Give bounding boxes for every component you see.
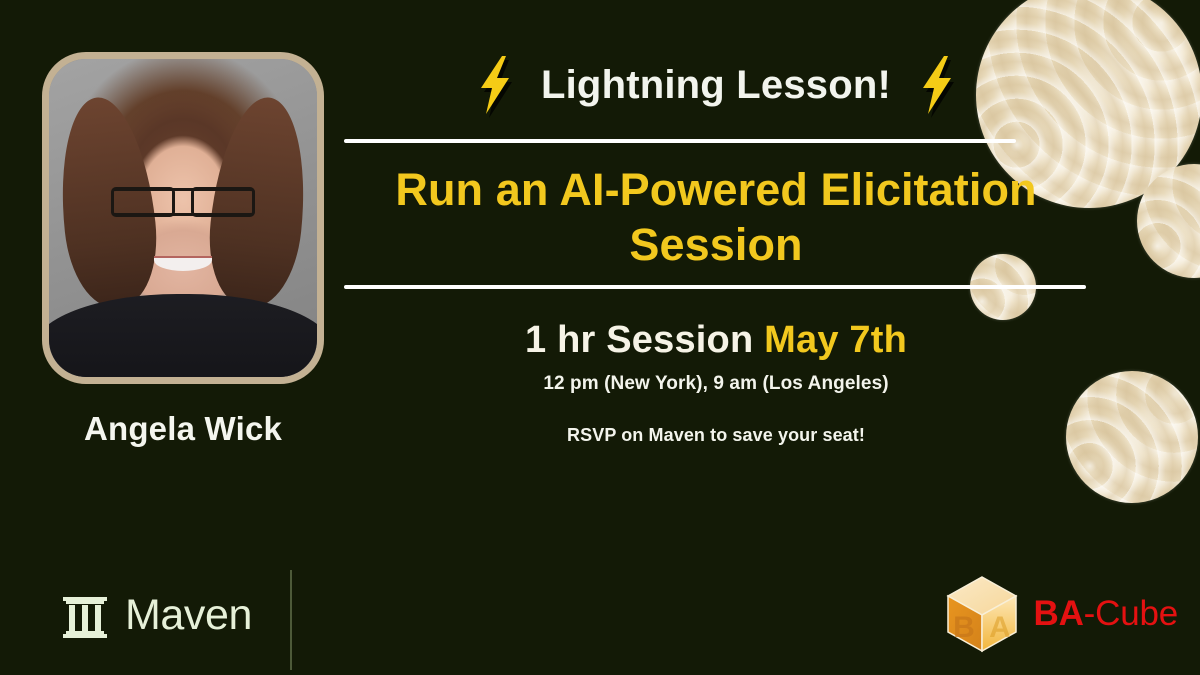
bacube-bold-text: BA <box>1034 594 1084 633</box>
session-date: May 7th <box>764 319 907 361</box>
speaker-block: Angela Wick <box>42 52 324 448</box>
bacube-light-text: -Cube <box>1084 594 1178 633</box>
lightning-bolt-icon <box>917 56 957 114</box>
svg-text:A: A <box>989 611 1011 644</box>
footer-divider <box>290 570 292 670</box>
eyebrow-label: Lightning Lesson! <box>541 63 891 108</box>
decorative-circle <box>1137 164 1200 278</box>
svg-text:B: B <box>953 611 975 644</box>
session-headline: 1 hr Session May 7th <box>344 319 1088 362</box>
avatar <box>42 52 324 384</box>
maven-columns-icon <box>62 593 108 639</box>
session-duration: 1 hr Session <box>525 319 764 361</box>
divider-bottom <box>344 285 1086 289</box>
page-title: Run an AI-Powered Elicitation Session <box>344 163 1088 273</box>
speaker-photo <box>49 59 317 377</box>
promo-poster: Angela Wick Lightning Lesson! Run an AI-… <box>0 0 1200 675</box>
lightning-bolt-icon <box>475 56 515 114</box>
divider-top <box>344 139 1016 143</box>
maven-wordmark: Maven <box>125 591 252 640</box>
maven-logo[interactable]: Maven <box>62 591 252 640</box>
content-column: Lightning Lesson! Run an AI-Powered Elic… <box>344 44 1088 446</box>
eyebrow-banner: Lightning Lesson! <box>344 44 1088 126</box>
glasses-icon <box>111 188 256 217</box>
bacube-wordmark: BA-Cube <box>1034 594 1178 634</box>
bacube-logo[interactable]: B A BA-Cube <box>944 575 1178 653</box>
smile <box>154 258 213 271</box>
session-timezones: 12 pm (New York), 9 am (Los Angeles) <box>344 373 1088 395</box>
rsvp-call-to-action: RSVP on Maven to save your seat! <box>344 425 1088 446</box>
jacket <box>42 294 324 384</box>
ba-cube-3d-icon: B A <box>944 575 1020 653</box>
speaker-name: Angela Wick <box>42 410 324 448</box>
